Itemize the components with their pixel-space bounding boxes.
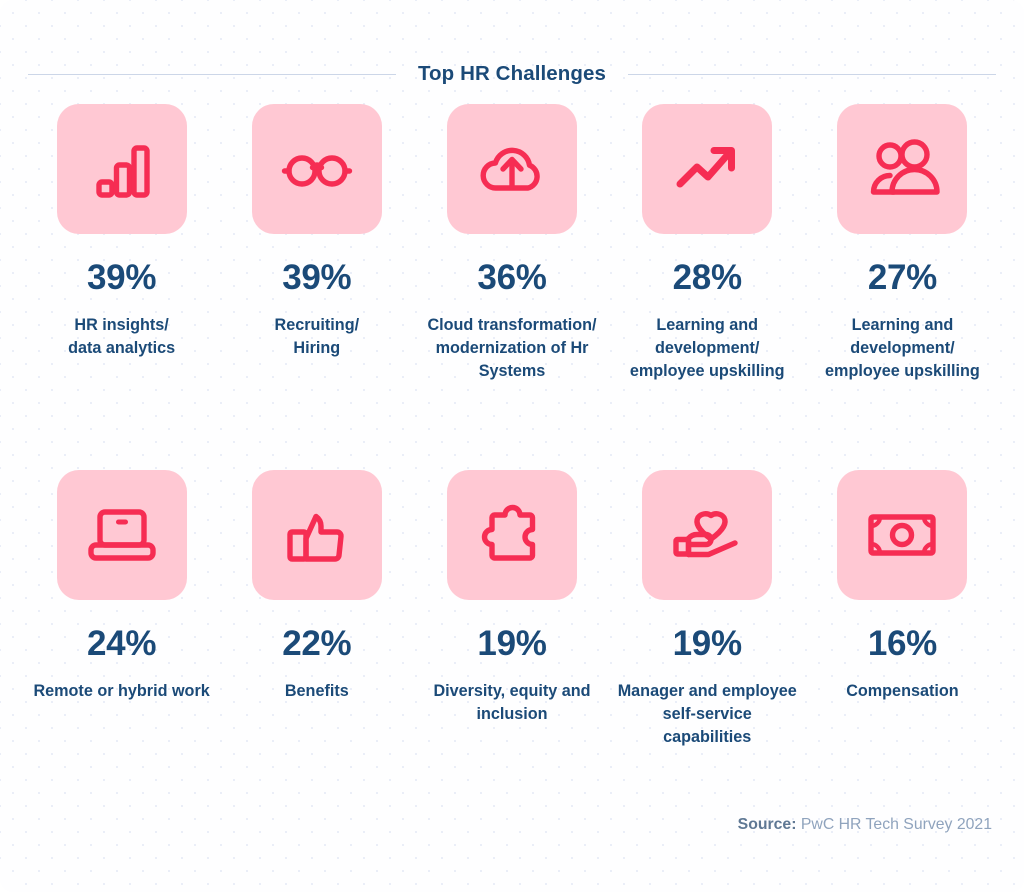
eyeglasses-icon xyxy=(279,131,355,207)
stat-cell-manager-self-service: 19% Manager and employee self-service ca… xyxy=(610,470,805,780)
stat-label: Remote or hybrid work xyxy=(33,680,209,703)
stat-cell-diversity-equity: 19% Diversity, equity and inclusion xyxy=(414,470,609,780)
stat-percent: 39% xyxy=(87,260,156,295)
icon-tile xyxy=(447,104,577,234)
stat-cell-remote-work: 24% Remote or hybrid work xyxy=(24,470,219,780)
stat-label: Compensation xyxy=(846,680,958,703)
title-row: Top HR Challenges xyxy=(28,62,996,86)
stat-cell-recruiting: 39% Recruiting/Hiring xyxy=(219,104,414,470)
infographic-card: Top HR Challenges 39% HR insights/data a… xyxy=(0,0,1024,892)
stat-label: Recruiting/Hiring xyxy=(275,314,360,360)
stat-cell-learning-development-27: 27% Learning and development/ employee u… xyxy=(805,104,1000,470)
stats-grid: 39% HR insights/data analytics xyxy=(24,104,1000,780)
hand-heart-icon xyxy=(667,498,747,572)
stat-label: Manager and employee self-service capabi… xyxy=(618,680,797,749)
stat-percent: 27% xyxy=(868,260,937,295)
cloud-upload-icon xyxy=(472,131,552,207)
stat-cell-benefits: 22% Benefits xyxy=(219,470,414,780)
stat-percent: 16% xyxy=(868,626,937,661)
icon-tile xyxy=(837,104,967,234)
source-note: Source: PwC HR Tech Survey 2021 xyxy=(738,816,992,834)
stats-row: 24% Remote or hybrid work 22% Benefits xyxy=(24,470,1000,780)
stat-label: Learning and development/ employee upski… xyxy=(813,314,992,383)
stat-percent: 24% xyxy=(87,626,156,661)
trending-up-icon xyxy=(670,132,744,206)
icon-tile xyxy=(252,470,382,600)
stats-row: 39% HR insights/data analytics xyxy=(24,104,1000,470)
stat-percent: 19% xyxy=(673,626,742,661)
stat-percent: 28% xyxy=(673,260,742,295)
stat-label: Cloud transformation/ modernization of H… xyxy=(422,314,601,383)
icon-tile xyxy=(642,104,772,234)
icon-tile xyxy=(642,470,772,600)
source-value: PwC HR Tech Survey 2021 xyxy=(801,816,992,833)
stat-label: Benefits xyxy=(285,680,349,703)
stat-percent: 39% xyxy=(282,260,351,295)
stat-percent: 36% xyxy=(477,260,546,295)
stat-label: Learning and development/ employee upski… xyxy=(618,314,797,383)
page-title: Top HR Challenges xyxy=(396,62,628,86)
banknote-icon xyxy=(862,504,942,566)
icon-tile xyxy=(447,470,577,600)
stat-percent: 22% xyxy=(282,626,351,661)
icon-tile xyxy=(252,104,382,234)
bar-chart-icon xyxy=(86,133,158,205)
puzzle-piece-icon xyxy=(475,498,549,572)
title-rule-right xyxy=(628,74,996,75)
icon-tile xyxy=(837,470,967,600)
stat-cell-compensation: 16% Compensation xyxy=(805,470,1000,780)
stat-cell-hr-insights: 39% HR insights/data analytics xyxy=(24,104,219,470)
stat-label: Diversity, equity and inclusion xyxy=(422,680,601,726)
laptop-icon xyxy=(83,500,161,570)
icon-tile xyxy=(57,104,187,234)
stat-percent: 19% xyxy=(477,626,546,661)
source-label: Source: xyxy=(738,816,797,833)
icon-tile xyxy=(57,470,187,600)
people-group-icon xyxy=(863,132,941,206)
stat-cell-learning-development-28: 28% Learning and development/ employee u… xyxy=(610,104,805,470)
thumbs-up-icon xyxy=(280,498,354,572)
stat-cell-cloud-transformation: 36% Cloud transformation/ modernization … xyxy=(414,104,609,470)
title-rule-left xyxy=(28,74,396,75)
stat-label: HR insights/data analytics xyxy=(68,314,175,360)
